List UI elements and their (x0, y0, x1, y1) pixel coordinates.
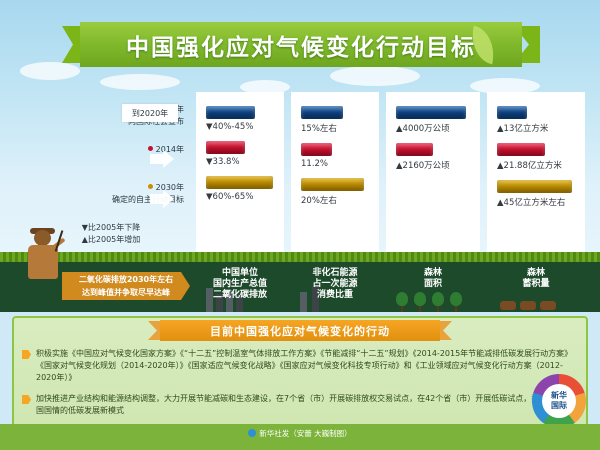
bullet-text-1: 积极实施《中国应对气候变化国家方案》《“十二五”控制温室气体排放工作方案》《节能… (36, 348, 578, 384)
bar-2030 (497, 180, 572, 193)
bar-2014 (497, 143, 545, 156)
bar-2009 (301, 106, 343, 119)
bar-label-2014: ▼33.8% (206, 157, 274, 167)
legend-dot-gold (148, 184, 153, 189)
bar-item: ▲4000万公顷 (396, 106, 470, 134)
banner-body: 中国强化应对气候变化行动目标 (80, 22, 522, 67)
bar-2009 (206, 106, 255, 119)
chart-panel-nonfossil-share: 15%左右 11.2% 20%左右 (291, 92, 379, 270)
chart-panel-carbon-intensity: ▼40%-45% ▼33.8% ▼60%-65% (196, 92, 284, 270)
actions-banner: 目前中国强化应对气候变化的行动 (148, 320, 452, 341)
bar-item: 20%左右 (301, 178, 369, 206)
bar-item: ▼60%-65% (206, 176, 274, 202)
bar-label-2014: ▲21.88亿立方米 (497, 159, 575, 171)
bullet-item: 积极实施《中国应对气候变化国家方案》《“十二五”控制温室气体排放工作方案》《节能… (22, 348, 578, 384)
bar-label-2030: ▲45亿立方米左右 (497, 196, 575, 208)
log-icon (520, 301, 536, 310)
cloud-decoration (330, 66, 420, 86)
legend-dot-red (148, 146, 153, 151)
bullet-item: 加快推进产业结构和能源结构调整，大力开展节能减碳和生态建设，在7个省（市）开展碳… (22, 393, 578, 417)
logo-text-line2: 国际 (551, 401, 567, 411)
bar-2014 (206, 141, 245, 154)
chart-panel-forest-area: ▲4000万公顷 ▲2160万公顷 (386, 92, 480, 270)
page-title: 中国强化应对气候变化行动目标 (126, 28, 476, 62)
cloud-decoration (100, 74, 180, 90)
peak-callout-line1: 二氧化碳排放2030年左右 (79, 273, 173, 286)
bar-2009 (396, 106, 466, 119)
actions-title: 目前中国强化应对气候变化的行动 (210, 323, 390, 339)
bar-item: ▼40%-45% (206, 106, 274, 132)
bar-group-forest-stock: ▲13亿立方米 ▲21.88亿立方米 ▲45亿立方米左右 (487, 92, 585, 208)
bar-group-nonfossil-share: 15%左右 11.2% 20%左右 (291, 92, 379, 206)
log-icon (540, 301, 556, 310)
category-label-carbon-intensity: 中国单位 国内生产总值 二氧化碳排放 (196, 268, 284, 301)
tree-icon (396, 292, 408, 312)
bar-item: 15%左右 (301, 106, 369, 134)
logo-text-line1: 新华 (551, 391, 567, 401)
bar-item: 11.2% (301, 143, 369, 169)
title-banner: 中国强化应对气候变化行动目标 (62, 22, 540, 67)
actions-bullets: 积极实施《中国应对气候变化国家方案》《“十二五”控制温室气体排放工作方案》《节能… (22, 348, 578, 426)
xinhua-badge-icon (248, 429, 256, 437)
bar-label-2030: ▼60%-65% (206, 192, 274, 202)
bar-2014 (396, 143, 433, 156)
bullet-arrow-icon (22, 350, 31, 359)
bar-2030 (301, 178, 364, 191)
bar-2009 (497, 106, 527, 119)
bar-item: ▲13亿立方米 (497, 106, 575, 134)
credit-text: 新华社发（安蕾 大巍制图） (259, 429, 351, 438)
bar-item: ▲21.88亿立方米 (497, 143, 575, 171)
bar-label-2014: 11.2% (301, 159, 369, 169)
bar-group-forest-area: ▲4000万公顷 ▲2160万公顷 (386, 92, 480, 171)
bullet-text-2: 加快推进产业结构和能源结构调整，大力开展节能减碳和生态建设，在7个省（市）开展碳… (36, 393, 578, 417)
year-tag-2020: 到2020年 (122, 104, 178, 122)
tree-icon (450, 292, 462, 312)
bar-item: ▲2160万公顷 (396, 143, 470, 171)
chart-panel-forest-stock: ▲13亿立方米 ▲21.88亿立方米 ▲45亿立方米左右 (487, 92, 585, 270)
bar-label-2030: 20%左右 (301, 194, 369, 206)
bar-label-2014: ▲2160万公顷 (396, 159, 470, 171)
tree-icon (414, 292, 426, 312)
bar-2014 (301, 143, 332, 156)
bar-label-2009: ▲4000万公顷 (396, 122, 470, 134)
grass-strip (0, 252, 600, 262)
bar-item: ▼33.8% (206, 141, 274, 167)
legend-label-2014: 2014年 (156, 145, 184, 154)
log-icon (500, 301, 516, 310)
bar-item: ▲45亿立方米左右 (497, 180, 575, 208)
bar-2030 (206, 176, 273, 189)
bar-label-2009: ▼40%-45% (206, 122, 274, 132)
bar-label-2009: 15%左右 (301, 122, 369, 134)
tree-icon (432, 292, 444, 312)
body-icon (28, 245, 58, 279)
category-label-forest-stock: 森林 蓄积量 (487, 268, 585, 290)
bullet-arrow-icon (22, 395, 31, 404)
legend-label-2030: 2030年 (156, 183, 184, 192)
category-label-nonfossil-share: 非化石能源 占一次能源 消费比重 (291, 268, 379, 301)
peak-callout-line2: 达到峰值并争取尽早达峰 (79, 286, 173, 299)
logo-inner: 新华 国际 (542, 384, 576, 418)
xinhua-logo: 新华 国际 (532, 374, 586, 428)
bar-group-carbon-intensity: ▼40%-45% ▼33.8% ▼60%-65% (196, 92, 284, 202)
bar-label-2009: ▲13亿立方米 (497, 122, 575, 134)
head-icon (34, 230, 51, 246)
peak-callout: 二氧化碳排放2030年左右 达到峰值并争取尽早达峰 (62, 272, 190, 300)
credit-line: 新华社发（安蕾 大巍制图） (0, 428, 600, 439)
category-label-forest-area: 森林 面积 (386, 268, 480, 290)
sub-banner-body: 目前中国强化应对气候变化的行动 (160, 320, 440, 341)
farmer-illustration (22, 228, 68, 286)
legend: 2009年 向国际社会宣布 2014年 2030年 确定的自主行动目标 ▼比20… (36, 104, 186, 246)
